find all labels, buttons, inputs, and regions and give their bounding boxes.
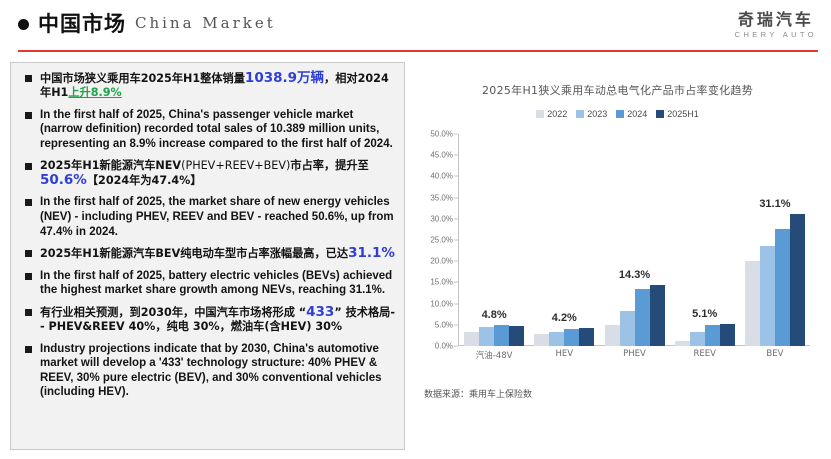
x-axis-category-label: 汽油-48V bbox=[459, 349, 529, 361]
bar[interactable] bbox=[534, 334, 549, 346]
brand-logo-cn: 奇瑞汽车 bbox=[735, 11, 817, 28]
bullet-item: 2025年H1新能源汽车BEV纯电动车型市占率涨幅最高，已达31.1% bbox=[19, 246, 396, 261]
legend-label: 2022 bbox=[547, 109, 567, 119]
bullet-dot-icon bbox=[18, 19, 29, 30]
legend-label: 2025H1 bbox=[667, 109, 699, 119]
y-axis-tick-label: 35.0% bbox=[430, 193, 453, 202]
y-axis-tick-label: 40.0% bbox=[430, 172, 453, 181]
chart-bar-groups: 4.8%4.2%14.3%5.1%31.1% bbox=[459, 134, 810, 346]
bar-group: 4.8% bbox=[459, 134, 529, 346]
bar-group-bars bbox=[605, 134, 665, 346]
bar[interactable] bbox=[605, 325, 620, 346]
chart-title: 2025年H1狭义乘用车动总电气化产品市占率变化趋势 bbox=[410, 82, 825, 98]
bullet-text-segment: 50.6% bbox=[40, 172, 87, 188]
bullet-text: Industry projections indicate that by 20… bbox=[40, 342, 396, 400]
page-title-en: China Market bbox=[135, 14, 276, 32]
legend-item[interactable]: 2024 bbox=[616, 109, 647, 119]
legend-label: 2024 bbox=[627, 109, 647, 119]
bullet-text-segment: 1038.9万辆 bbox=[245, 70, 324, 86]
bar[interactable] bbox=[549, 332, 564, 346]
bullet-text-segment: 2025年H1新能源汽车NEV bbox=[40, 159, 181, 172]
bullet-text-segment: (PHEV+REEV+BEV) bbox=[181, 159, 290, 172]
legend-swatch-icon bbox=[536, 110, 544, 118]
square-bullet-icon bbox=[25, 199, 32, 206]
bullet-text-segment: 433 bbox=[306, 304, 334, 320]
x-axis-category-label: PHEV bbox=[599, 349, 669, 361]
brand-logo-en: CHERY AUTO bbox=[735, 29, 817, 40]
bar[interactable] bbox=[494, 325, 509, 346]
bar-value-label: 4.2% bbox=[529, 312, 599, 324]
bar-value-label: 5.1% bbox=[670, 308, 740, 320]
bullet-text: 2025年H1新能源汽车BEV纯电动车型市占率涨幅最高，已达31.1% bbox=[40, 246, 396, 261]
page-title-cn: 中国市场 bbox=[38, 8, 126, 38]
bar[interactable] bbox=[635, 289, 650, 346]
bar[interactable] bbox=[790, 214, 805, 346]
bar-value-label: 4.8% bbox=[459, 309, 529, 321]
bar[interactable] bbox=[775, 229, 790, 346]
square-bullet-icon bbox=[25, 250, 32, 257]
legend-label: 2023 bbox=[587, 109, 607, 119]
bullet-text-segment: 中国市场狭义乘用车2025年H1整体销量 bbox=[40, 72, 245, 85]
square-bullet-icon bbox=[25, 163, 32, 170]
bar[interactable] bbox=[509, 326, 524, 346]
bar[interactable] bbox=[479, 327, 494, 346]
y-axis-tick-label: 50.0% bbox=[430, 130, 453, 139]
bar[interactable] bbox=[720, 324, 735, 346]
bar[interactable] bbox=[690, 332, 705, 346]
y-axis-tick-label: 0.0% bbox=[435, 342, 453, 351]
y-axis-tick-label: 5.0% bbox=[435, 320, 453, 329]
y-axis-tick-label: 25.0% bbox=[430, 236, 453, 245]
bullet-text-segment: 31.1% bbox=[348, 245, 395, 261]
square-bullet-icon bbox=[25, 75, 32, 82]
y-axis-tick-label: 45.0% bbox=[430, 151, 453, 160]
bar[interactable] bbox=[745, 261, 760, 346]
legend-swatch-icon bbox=[616, 110, 624, 118]
bullet-text: In the first half of 2025, battery elect… bbox=[40, 269, 396, 298]
bar-group: 31.1% bbox=[740, 134, 810, 346]
x-axis-category-label: BEV bbox=[740, 349, 810, 361]
header-divider bbox=[18, 50, 818, 52]
bullet-list-panel: 中国市场狭义乘用车2025年H1整体销量1038.9万辆，相对2024年H1上升… bbox=[10, 62, 405, 450]
bullet-item: Industry projections indicate that by 20… bbox=[19, 342, 396, 400]
legend-swatch-icon bbox=[656, 110, 664, 118]
legend-item[interactable]: 2023 bbox=[576, 109, 607, 119]
bullet-text: 有行业相关预测，到2030年，中国汽车市场将形成 “433” 技术格局-- PH… bbox=[40, 305, 396, 335]
x-axis-category-label: HEV bbox=[529, 349, 599, 361]
y-axis-tick-label: 10.0% bbox=[430, 299, 453, 308]
bar-group: 4.2% bbox=[529, 134, 599, 346]
square-bullet-icon bbox=[25, 112, 32, 119]
legend-swatch-icon bbox=[576, 110, 584, 118]
bar-value-label: 14.3% bbox=[599, 269, 669, 281]
bar[interactable] bbox=[650, 285, 665, 346]
bullet-item: 中国市场狭义乘用车2025年H1整体销量1038.9万辆，相对2024年H1上升… bbox=[19, 71, 396, 101]
chart-y-axis: 50.0%45.0%40.0%35.0%30.0%25.0%20.0%15.0%… bbox=[418, 134, 460, 349]
legend-item[interactable]: 2025H1 bbox=[656, 109, 699, 119]
bar-group: 14.3% bbox=[599, 134, 669, 346]
bullet-item: 有行业相关预测，到2030年，中国汽车市场将形成 “433” 技术格局-- PH… bbox=[19, 305, 396, 335]
bullet-item: In the first half of 2025, China's passe… bbox=[19, 108, 396, 152]
bar[interactable] bbox=[675, 341, 690, 346]
bullet-text-segment: 上升8.9% bbox=[68, 86, 121, 99]
y-axis-tick-label: 30.0% bbox=[430, 214, 453, 223]
chart-plot-area: 50.0%45.0%40.0%35.0%30.0%25.0%20.0%15.0%… bbox=[418, 134, 818, 369]
brand-logo: 奇瑞汽车 CHERY AUTO bbox=[735, 11, 817, 40]
bar[interactable] bbox=[760, 246, 775, 346]
chart-panel: 2025年H1狭义乘用车动总电气化产品市占率变化趋势 2022202320242… bbox=[410, 62, 825, 450]
bar[interactable] bbox=[564, 329, 579, 346]
y-axis-tick-label: 20.0% bbox=[430, 257, 453, 266]
bullet-text: In the first half of 2025, the market sh… bbox=[40, 195, 396, 239]
bullet-text-segment: 【2024年为47.4%】 bbox=[87, 174, 202, 187]
bullet-text-segment: 市占率，提升至 bbox=[290, 159, 368, 172]
bullet-text-segment: 有行业相关预测，到2030年，中国汽车市场将形成 “ bbox=[40, 306, 306, 319]
bullet-text: 2025年H1新能源汽车NEV(PHEV+REEV+BEV)市占率，提升至50.… bbox=[40, 159, 396, 189]
bullet-item: 2025年H1新能源汽车NEV(PHEV+REEV+BEV)市占率，提升至50.… bbox=[19, 159, 396, 189]
bullet-text: In the first half of 2025, China's passe… bbox=[40, 108, 396, 152]
bullet-text: 中国市场狭义乘用车2025年H1整体销量1038.9万辆，相对2024年H1上升… bbox=[40, 71, 396, 101]
bullet-item: In the first half of 2025, battery elect… bbox=[19, 269, 396, 298]
bullet-item: In the first half of 2025, the market sh… bbox=[19, 195, 396, 239]
square-bullet-icon bbox=[25, 346, 32, 353]
bar[interactable] bbox=[579, 328, 594, 346]
bar[interactable] bbox=[620, 311, 635, 346]
legend-item[interactable]: 2022 bbox=[536, 109, 567, 119]
bar-group-bars bbox=[745, 134, 805, 346]
square-bullet-icon bbox=[25, 273, 32, 280]
chart-source-note: 数据来源：乘用车上保险数 bbox=[424, 387, 532, 400]
bar-group: 5.1% bbox=[670, 134, 740, 346]
x-axis-category-label: REEV bbox=[670, 349, 740, 361]
slide-header: 中国市场 China Market 奇瑞汽车 CHERY AUTO bbox=[0, 0, 831, 52]
chart-x-axis-labels: 汽油-48VHEVPHEVREEVBEV bbox=[459, 349, 810, 361]
bar[interactable] bbox=[705, 325, 720, 346]
bar[interactable] bbox=[464, 332, 479, 346]
square-bullet-icon bbox=[25, 309, 32, 316]
bullet-text-segment: 2025年H1新能源汽车BEV纯电动车型市占率涨幅最高，已达 bbox=[40, 247, 348, 260]
chart-legend: 2022202320242025H1 bbox=[410, 109, 825, 119]
bar-value-label: 31.1% bbox=[740, 198, 810, 210]
y-axis-tick-label: 15.0% bbox=[430, 278, 453, 287]
